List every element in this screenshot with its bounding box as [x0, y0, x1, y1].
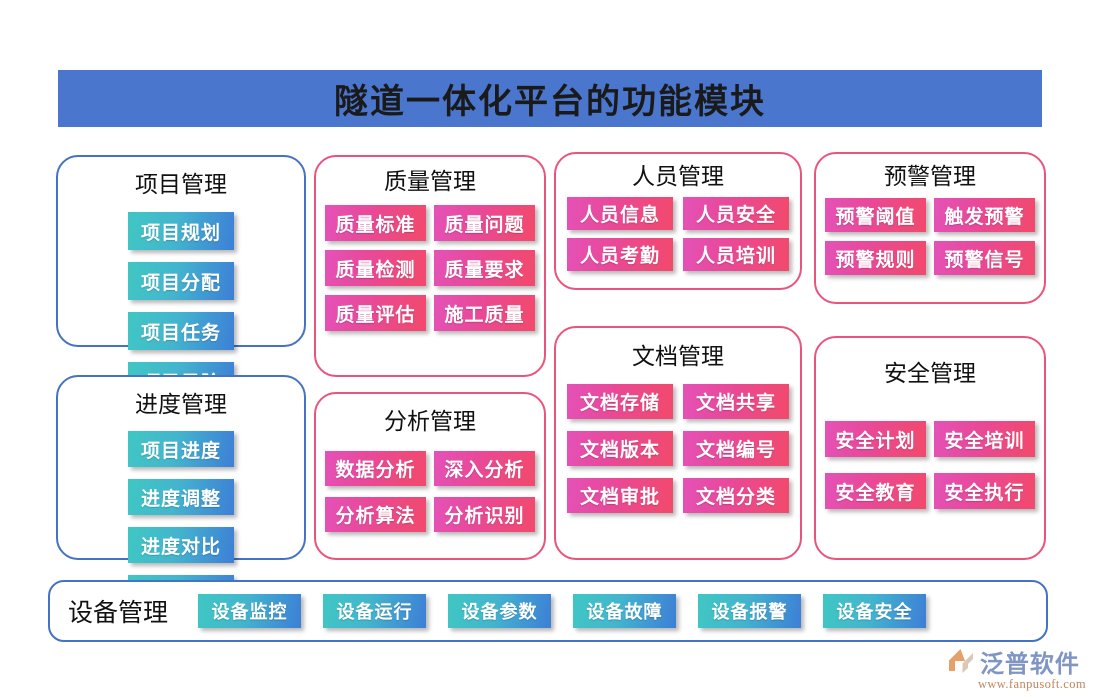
fanpu-logo-icon [946, 647, 976, 677]
page-title: 隧道一体化平台的功能模块 [334, 74, 766, 123]
chip-project-planning[interactable]: 项目规划 [128, 212, 234, 250]
card-title: 预警管理 [816, 165, 1044, 188]
page-title-banner: 隧道一体化平台的功能模块 [58, 70, 1042, 127]
chip-safety-training[interactable]: 安全培训 [934, 421, 1035, 457]
chip-safety-education[interactable]: 安全教育 [825, 473, 926, 509]
card-chip-grid: 项目规划 项目分配 项目任务 项目风险 [58, 212, 304, 400]
card-chip-grid: 人员信息 人员安全 人员考勤 人员培训 [556, 197, 800, 271]
brand-logo: 泛普软件 www.fanpusoft.com [946, 644, 1086, 692]
chip-personnel-safety[interactable]: 人员安全 [683, 197, 789, 230]
chip-document-number[interactable]: 文档编号 [683, 431, 789, 466]
card-chip-grid: 数据分析 深入分析 分析算法 分析识别 [316, 451, 544, 532]
chip-progress-adjustment[interactable]: 进度调整 [128, 479, 234, 515]
card-title: 文档管理 [556, 345, 800, 368]
chip-progress-comparison[interactable]: 进度对比 [128, 527, 234, 563]
chip-warning-rule[interactable]: 预警规则 [825, 241, 926, 275]
chip-device-fault[interactable]: 设备故障 [573, 594, 676, 628]
chip-safety-plan[interactable]: 安全计划 [825, 421, 926, 457]
chip-device-alarm[interactable]: 设备报警 [698, 594, 801, 628]
device-bar-chips: 设备监控 设备运行 设备参数 设备故障 设备报警 设备安全 [198, 594, 926, 628]
device-bar-title: 设备管理 [68, 593, 168, 629]
logo-url: www.fanpusoft.com [978, 677, 1086, 692]
logo-name: 泛普软件 [980, 644, 1080, 679]
card-analysis-management: 分析管理 数据分析 深入分析 分析算法 分析识别 [314, 392, 546, 560]
card-document-management: 文档管理 文档存储 文档共享 文档版本 文档编号 文档审批 文档分类 [554, 326, 802, 560]
chip-quality-inspection[interactable]: 质量检测 [325, 250, 426, 286]
chip-personnel-attendance[interactable]: 人员考勤 [567, 238, 673, 271]
chip-construction-quality[interactable]: 施工质量 [434, 295, 535, 331]
chip-analysis-recognition[interactable]: 分析识别 [434, 497, 535, 532]
chip-project-task[interactable]: 项目任务 [128, 312, 234, 350]
card-quality-management: 质量管理 质量标准 质量问题 质量检测 质量要求 质量评估 施工质量 [314, 155, 546, 377]
chip-deep-analysis[interactable]: 深入分析 [434, 451, 535, 486]
card-title: 安全管理 [816, 362, 1044, 385]
card-project-management: 项目管理 项目规划 项目分配 项目任务 项目风险 [56, 155, 306, 347]
card-chip-grid: 预警阈值 触发预警 预警规则 预警信号 [816, 198, 1044, 275]
card-chip-grid: 文档存储 文档共享 文档版本 文档编号 文档审批 文档分类 [556, 384, 800, 513]
chip-quality-evaluation[interactable]: 质量评估 [325, 295, 426, 331]
card-title: 进度管理 [58, 393, 304, 416]
chip-project-allocation[interactable]: 项目分配 [128, 262, 234, 300]
card-chip-grid: 安全计划 安全培训 安全教育 安全执行 [816, 421, 1044, 509]
chip-quality-issue[interactable]: 质量问题 [434, 205, 535, 241]
card-warning-management: 预警管理 预警阈值 触发预警 预警规则 预警信号 [814, 152, 1046, 304]
chip-personnel-info[interactable]: 人员信息 [567, 197, 673, 230]
chip-quality-requirement[interactable]: 质量要求 [434, 250, 535, 286]
card-safety-management: 安全管理 安全计划 安全培训 安全教育 安全执行 [814, 336, 1046, 560]
chip-document-version[interactable]: 文档版本 [567, 431, 673, 466]
chip-document-approval[interactable]: 文档审批 [567, 478, 673, 513]
chip-device-safety[interactable]: 设备安全 [823, 594, 926, 628]
chip-device-monitoring[interactable]: 设备监控 [198, 594, 301, 628]
chip-analysis-algorithm[interactable]: 分析算法 [325, 497, 426, 532]
card-title: 人员管理 [556, 165, 800, 188]
card-title: 项目管理 [58, 173, 304, 196]
chip-project-progress[interactable]: 项目进度 [128, 431, 234, 467]
chip-trigger-warning[interactable]: 触发预警 [934, 198, 1035, 232]
chip-quality-standard[interactable]: 质量标准 [325, 205, 426, 241]
chip-device-parameter[interactable]: 设备参数 [448, 594, 551, 628]
card-title: 质量管理 [316, 170, 544, 193]
card-chip-grid: 质量标准 质量问题 质量检测 质量要求 质量评估 施工质量 [316, 205, 544, 331]
card-schedule-management: 进度管理 项目进度 进度调整 进度对比 进度分析 [56, 375, 306, 560]
chip-device-operation[interactable]: 设备运行 [323, 594, 426, 628]
logo-row: 泛普软件 [946, 644, 1080, 679]
device-management-bar: 设备管理 设备监控 设备运行 设备参数 设备故障 设备报警 设备安全 [48, 580, 1048, 642]
chip-document-classification[interactable]: 文档分类 [683, 478, 789, 513]
card-personnel-management: 人员管理 人员信息 人员安全 人员考勤 人员培训 [554, 152, 802, 290]
card-title: 分析管理 [316, 410, 544, 433]
chip-data-analysis[interactable]: 数据分析 [325, 451, 426, 486]
chip-document-storage[interactable]: 文档存储 [567, 384, 673, 419]
chip-personnel-training[interactable]: 人员培训 [683, 238, 789, 271]
chip-warning-threshold[interactable]: 预警阈值 [825, 198, 926, 232]
chip-safety-execution[interactable]: 安全执行 [934, 473, 1035, 509]
chip-document-sharing[interactable]: 文档共享 [683, 384, 789, 419]
chip-warning-signal[interactable]: 预警信号 [934, 241, 1035, 275]
